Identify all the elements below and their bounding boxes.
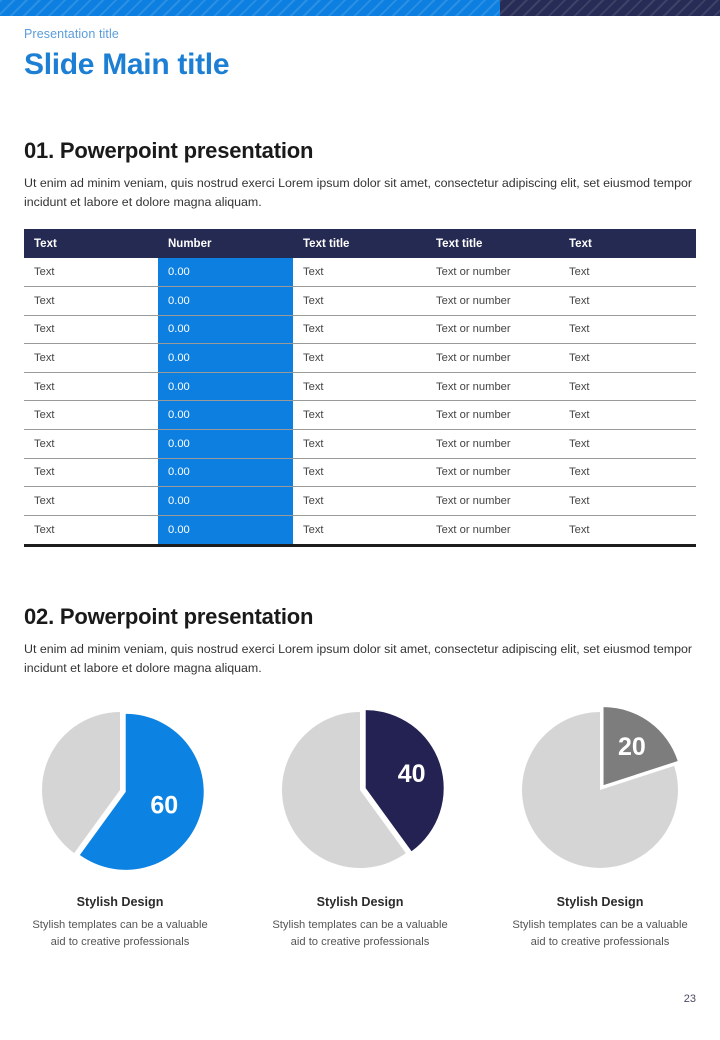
pie-caption-title: Stylish Design	[557, 894, 644, 910]
topbar-blue-stripe	[0, 0, 500, 16]
table-cell-col4: Text	[559, 515, 696, 544]
pie-chart-card-1: 60Stylish DesignStylish templates can be…	[0, 700, 240, 951]
table-cell-col2: Text	[293, 372, 426, 401]
table-cell-col0: Text	[24, 315, 158, 344]
table-cell-col4: Text	[559, 315, 696, 344]
table-cell-col2: Text	[293, 401, 426, 430]
table-cell-col0: Text	[24, 372, 158, 401]
table-cell-col4: Text	[559, 372, 696, 401]
table-row: Text0.00TextText or numberText	[24, 458, 696, 487]
table-cell-col1: 0.00	[158, 372, 293, 401]
table-cell-col3: Text or number	[426, 515, 559, 544]
table-col-header-0: Text	[24, 229, 158, 258]
table-cell-col4: Text	[559, 258, 696, 287]
slide-header: Presentation title Slide Main title	[24, 26, 229, 84]
table-row: Text0.00TextText or numberText	[24, 430, 696, 459]
table-cell-col1: 0.00	[158, 487, 293, 516]
table-row: Text0.00TextText or numberText	[24, 344, 696, 373]
data-table-wrapper: TextNumberText titleText titleText Text0…	[24, 229, 696, 547]
pie-value-label: 60	[150, 791, 178, 819]
pie-caption-title: Stylish Design	[77, 894, 164, 910]
table-cell-col3: Text or number	[426, 258, 559, 287]
table-cell-col0: Text	[24, 430, 158, 459]
table-row: Text0.00TextText or numberText	[24, 401, 696, 430]
table-row: Text0.00TextText or numberText	[24, 515, 696, 544]
table-header-row: TextNumberText titleText titleText	[24, 229, 696, 258]
table-cell-col2: Text	[293, 458, 426, 487]
slide-canvas: Presentation title Slide Main title 01. …	[0, 0, 720, 1040]
topbar-navy-stripe	[500, 0, 720, 16]
table-cell-col1: 0.00	[158, 315, 293, 344]
table-cell-col0: Text	[24, 344, 158, 373]
pie-chart-1: 60	[30, 700, 210, 880]
table-cell-col3: Text or number	[426, 344, 559, 373]
page-number: 23	[684, 993, 696, 1005]
pie-chart-card-2: 40Stylish DesignStylish templates can be…	[240, 700, 480, 951]
pie-chart-3: 20	[510, 700, 690, 880]
table-cell-col3: Text or number	[426, 430, 559, 459]
pie-chart-card-3: 20Stylish DesignStylish templates can be…	[480, 700, 720, 951]
pie-chart-row: 60Stylish DesignStylish templates can be…	[0, 700, 720, 951]
table-cell-col1: 0.00	[158, 458, 293, 487]
section-01-heading: 01. Powerpoint presentation	[24, 137, 696, 165]
section-02-body: Ut enim ad minim veniam, quis nostrud ex…	[24, 640, 696, 678]
table-col-header-3: Text title	[426, 229, 559, 258]
table-cell-col0: Text	[24, 401, 158, 430]
table-row: Text0.00TextText or numberText	[24, 372, 696, 401]
table-col-header-2: Text title	[293, 229, 426, 258]
pie-caption-title: Stylish Design	[317, 894, 404, 910]
table-cell-col1: 0.00	[158, 430, 293, 459]
table-cell-col2: Text	[293, 515, 426, 544]
pie-value-label: 20	[618, 733, 646, 761]
table-cell-col0: Text	[24, 258, 158, 287]
table-cell-col3: Text or number	[426, 458, 559, 487]
table-cell-col4: Text	[559, 401, 696, 430]
table-col-header-1: Number	[158, 229, 293, 258]
section-02: 02. Powerpoint presentation Ut enim ad m…	[24, 603, 696, 678]
pie-chart-2: 40	[270, 700, 450, 880]
table-cell-col0: Text	[24, 458, 158, 487]
table-bottom-rule	[24, 544, 696, 547]
table-cell-col2: Text	[293, 258, 426, 287]
table-row: Text0.00TextText or numberText	[24, 315, 696, 344]
table-row: Text0.00TextText or numberText	[24, 487, 696, 516]
table-row: Text0.00TextText or numberText	[24, 287, 696, 316]
table-cell-col1: 0.00	[158, 258, 293, 287]
page-title: Slide Main title	[24, 46, 229, 84]
section-02-heading: 02. Powerpoint presentation	[24, 603, 696, 631]
table-cell-col3: Text or number	[426, 372, 559, 401]
table-cell-col4: Text	[559, 458, 696, 487]
section-01-body: Ut enim ad minim veniam, quis nostrud ex…	[24, 174, 696, 212]
table-cell-col3: Text or number	[426, 315, 559, 344]
table-cell-col2: Text	[293, 315, 426, 344]
table-cell-col4: Text	[559, 430, 696, 459]
presentation-title-eyebrow: Presentation title	[24, 26, 229, 42]
table-cell-col0: Text	[24, 487, 158, 516]
table-cell-col1: 0.00	[158, 344, 293, 373]
table-cell-col1: 0.00	[158, 401, 293, 430]
table-cell-col1: 0.00	[158, 287, 293, 316]
table-cell-col2: Text	[293, 287, 426, 316]
table-cell-col1: 0.00	[158, 515, 293, 544]
pie-caption-body: Stylish templates can be a valuable aid …	[510, 917, 690, 951]
table-cell-col0: Text	[24, 287, 158, 316]
top-decoration-bar	[0, 0, 720, 16]
pie-caption-body: Stylish templates can be a valuable aid …	[270, 917, 450, 951]
table-cell-col4: Text	[559, 487, 696, 516]
section-01: 01. Powerpoint presentation Ut enim ad m…	[24, 137, 696, 212]
table-cell-col2: Text	[293, 487, 426, 516]
pie-value-label: 40	[398, 760, 426, 788]
table-row: Text0.00TextText or numberText	[24, 258, 696, 287]
table-cell-col4: Text	[559, 344, 696, 373]
table-cell-col4: Text	[559, 287, 696, 316]
table-col-header-4: Text	[559, 229, 696, 258]
table-cell-col2: Text	[293, 430, 426, 459]
data-table: TextNumberText titleText titleText Text0…	[24, 229, 696, 544]
table-cell-col3: Text or number	[426, 401, 559, 430]
table-cell-col0: Text	[24, 515, 158, 544]
table-cell-col3: Text or number	[426, 487, 559, 516]
table-cell-col3: Text or number	[426, 287, 559, 316]
pie-caption-body: Stylish templates can be a valuable aid …	[30, 917, 210, 951]
table-cell-col2: Text	[293, 344, 426, 373]
